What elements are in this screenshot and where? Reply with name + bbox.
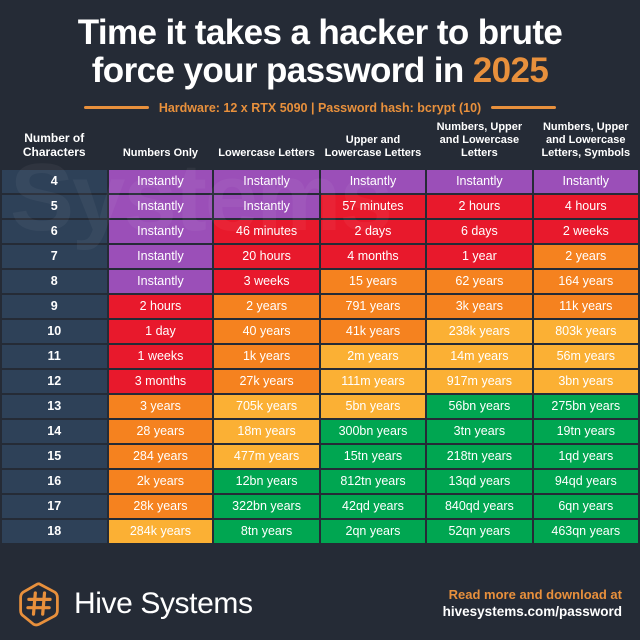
crack-time-cell: Instantly (109, 170, 213, 193)
title-line-1: Time it takes a hacker to brute (78, 13, 563, 52)
table-row: 7Instantly20 hours4 months1 year2 years (2, 245, 638, 268)
table-row: 8Instantly3 weeks15 years62 years164 yea… (2, 270, 638, 293)
crack-time-cell: 56bn years (427, 395, 531, 418)
crack-time-cell: 4 months (321, 245, 425, 268)
crack-time-cell: 812tn years (321, 470, 425, 493)
crack-time-cell: 12bn years (214, 470, 318, 493)
crack-time-cell: 791 years (321, 295, 425, 318)
table-row: 123 months27k years111m years917m years3… (2, 370, 638, 393)
crack-time-cell: Instantly (109, 220, 213, 243)
crack-time-cell: 5bn years (321, 395, 425, 418)
row-character-count: 15 (2, 445, 107, 468)
crack-time-cell: 2 years (534, 245, 638, 268)
row-character-count: 13 (2, 395, 107, 418)
row-character-count: 17 (2, 495, 107, 518)
row-character-count: 5 (2, 195, 107, 218)
crack-time-cell: 15 years (321, 270, 425, 293)
crack-time-cell: 40 years (214, 320, 318, 343)
table-row: 18284k years8tn years2qn years52qn years… (2, 520, 638, 543)
table-row: 1428 years18m years300bn years3tn years1… (2, 420, 638, 443)
table-row: 111 weeks1k years2m years14m years56m ye… (2, 345, 638, 368)
crack-time-cell: 4 hours (534, 195, 638, 218)
crack-time-cell: 284 years (109, 445, 213, 468)
crack-time-cell: 2 years (214, 295, 318, 318)
crack-time-cell: Instantly (321, 170, 425, 193)
crack-time-cell: 463qn years (534, 520, 638, 543)
crack-time-cell: 1 day (109, 320, 213, 343)
crack-time-cell: 57 minutes (321, 195, 425, 218)
crack-time-cell: 27k years (214, 370, 318, 393)
crack-time-cell: 300bn years (321, 420, 425, 443)
crack-time-cell: Instantly (214, 195, 318, 218)
row-character-count: 10 (2, 320, 107, 343)
table-row: 133 years705k years5bn years56bn years27… (2, 395, 638, 418)
table-header: Number of Characters Numbers Only Lowerc… (2, 117, 638, 168)
column-header-characters: Number of Characters (2, 117, 107, 168)
table-row: 4InstantlyInstantlyInstantlyInstantlyIns… (2, 170, 638, 193)
rule-right-icon (491, 106, 556, 109)
table-row: 15284 years477m years15tn years218tn yea… (2, 445, 638, 468)
row-character-count: 7 (2, 245, 107, 268)
crack-time-cell: 3 weeks (214, 270, 318, 293)
column-header-numbers-only: Numbers Only (109, 117, 213, 168)
row-character-count: 16 (2, 470, 107, 493)
crack-time-cell: 28 years (109, 420, 213, 443)
row-character-count: 18 (2, 520, 107, 543)
crack-time-cell: 2 days (321, 220, 425, 243)
crack-time-cell: 1k years (214, 345, 318, 368)
page-title: Time it takes a hacker to brute force yo… (18, 14, 622, 90)
footer: Hive Systems Read more and download at h… (0, 568, 640, 640)
cta-url-link[interactable]: hivesystems.com/password (443, 604, 622, 621)
crack-time-cell: 238k years (427, 320, 531, 343)
row-character-count: 9 (2, 295, 107, 318)
crack-time-cell: 52qn years (427, 520, 531, 543)
crack-time-cell: 28k years (109, 495, 213, 518)
brand-lockup[interactable]: Hive Systems (16, 581, 253, 627)
crack-time-cell: 3tn years (427, 420, 531, 443)
brand-name: Hive Systems (74, 587, 253, 621)
hive-systems-logo-icon (16, 581, 62, 627)
crack-time-cell: 15tn years (321, 445, 425, 468)
crack-time-cell: 18m years (214, 420, 318, 443)
crack-time-cell: 840qd years (427, 495, 531, 518)
table-row: 101 day40 years41k years238k years803k y… (2, 320, 638, 343)
crack-time-cell: 19tn years (534, 420, 638, 443)
cta-headline: Read more and download at (443, 587, 622, 603)
crack-time-cell: 20 hours (214, 245, 318, 268)
crack-time-cell: 2 hours (109, 295, 213, 318)
title-line-2: force your password in (92, 51, 473, 90)
crack-time-cell: 13qd years (427, 470, 531, 493)
crack-time-cell: Instantly (109, 270, 213, 293)
title-year: 2025 (473, 51, 548, 90)
crack-time-cell: 14m years (427, 345, 531, 368)
crack-time-cell: 62 years (427, 270, 531, 293)
table-row: 5InstantlyInstantly57 minutes2 hours4 ho… (2, 195, 638, 218)
row-character-count: 6 (2, 220, 107, 243)
password-table-container: Systems Number of Characters Numbers Onl… (0, 115, 640, 568)
crack-time-cell: 218tn years (427, 445, 531, 468)
crack-time-cell: 3 years (109, 395, 213, 418)
crack-time-cell: 111m years (321, 370, 425, 393)
crack-time-cell: 3k years (427, 295, 531, 318)
crack-time-cell: 56m years (534, 345, 638, 368)
crack-time-cell: 275bn years (534, 395, 638, 418)
table-row: 92 hours2 years791 years3k years11k year… (2, 295, 638, 318)
crack-time-cell: 41k years (321, 320, 425, 343)
crack-time-cell: 6 days (427, 220, 531, 243)
table-body: 4InstantlyInstantlyInstantlyInstantlyIns… (2, 170, 638, 543)
subtitle-text: Hardware: 12 x RTX 5090 | Password hash:… (159, 101, 481, 115)
crack-time-cell: 1 weeks (109, 345, 213, 368)
column-header-upper-lower: Upper and Lowercase Letters (321, 117, 425, 168)
crack-time-cell: 46 minutes (214, 220, 318, 243)
table-row: 6Instantly46 minutes2 days6 days2 weeks (2, 220, 638, 243)
crack-time-cell: Instantly (109, 195, 213, 218)
crack-time-cell: 2m years (321, 345, 425, 368)
crack-time-cell: 3 months (109, 370, 213, 393)
crack-time-cell: Instantly (214, 170, 318, 193)
crack-time-cell: 42qd years (321, 495, 425, 518)
column-header-numbers-upper-lower: Numbers, Upper and Lowercase Letters (427, 117, 531, 168)
crack-time-cell: 477m years (214, 445, 318, 468)
subtitle-bar: Hardware: 12 x RTX 5090 | Password hash:… (18, 101, 622, 115)
row-character-count: 8 (2, 270, 107, 293)
crack-time-cell: Instantly (109, 245, 213, 268)
crack-time-cell: 6qn years (534, 495, 638, 518)
crack-time-cell: 284k years (109, 520, 213, 543)
crack-time-cell: 1 year (427, 245, 531, 268)
crack-time-cell: 94qd years (534, 470, 638, 493)
crack-time-cell: Instantly (427, 170, 531, 193)
crack-time-cell: 8tn years (214, 520, 318, 543)
column-header-numbers-upper-lower-symbols: Numbers, Upper and Lowercase Letters, Sy… (534, 117, 638, 168)
crack-time-cell: 2 weeks (534, 220, 638, 243)
row-character-count: 11 (2, 345, 107, 368)
crack-time-cell: 705k years (214, 395, 318, 418)
table-header-row: Number of Characters Numbers Only Lowerc… (2, 117, 638, 168)
crack-time-cell: 2 hours (427, 195, 531, 218)
crack-time-cell: Instantly (534, 170, 638, 193)
cta-block[interactable]: Read more and download at hivesystems.co… (443, 587, 622, 620)
infographic-root: Time it takes a hacker to brute force yo… (0, 0, 640, 640)
crack-time-cell: 2k years (109, 470, 213, 493)
header: Time it takes a hacker to brute force yo… (0, 0, 640, 115)
crack-time-cell: 2qn years (321, 520, 425, 543)
table-row: 162k years12bn years812tn years13qd year… (2, 470, 638, 493)
crack-time-cell: 803k years (534, 320, 638, 343)
table-row: 1728k years322bn years42qd years840qd ye… (2, 495, 638, 518)
rule-left-icon (84, 106, 149, 109)
row-character-count: 12 (2, 370, 107, 393)
crack-time-cell: 3bn years (534, 370, 638, 393)
row-character-count: 4 (2, 170, 107, 193)
row-character-count: 14 (2, 420, 107, 443)
crack-time-cell: 322bn years (214, 495, 318, 518)
crack-time-cell: 11k years (534, 295, 638, 318)
crack-time-cell: 917m years (427, 370, 531, 393)
crack-time-cell: 164 years (534, 270, 638, 293)
crack-time-cell: 1qd years (534, 445, 638, 468)
password-crack-time-table: Number of Characters Numbers Only Lowerc… (0, 115, 640, 545)
column-header-lowercase: Lowercase Letters (214, 117, 318, 168)
